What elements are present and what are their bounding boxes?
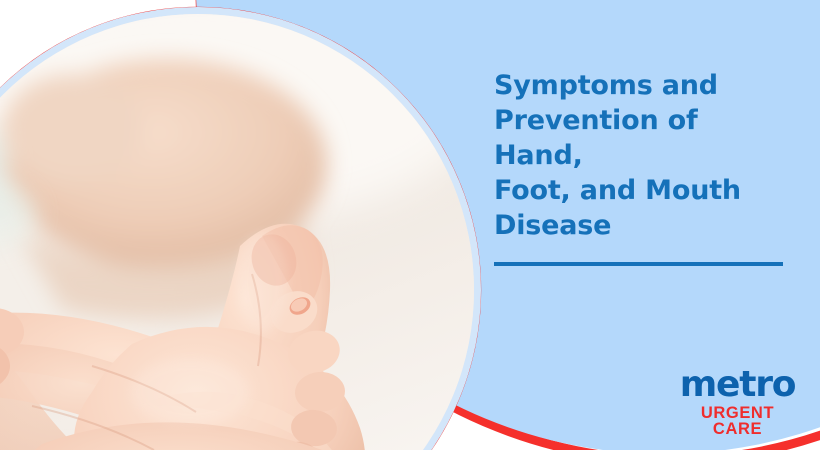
title-line-3: Foot, and Mouth bbox=[494, 175, 741, 206]
blog-banner: Symptoms and Prevention of Hand, Foot, a… bbox=[0, 0, 820, 450]
logo-brand-text: metro bbox=[675, 368, 800, 403]
title-line-2: Prevention of Hand, bbox=[494, 105, 698, 171]
title-line-4: Disease bbox=[494, 210, 611, 241]
hero-photo-image bbox=[0, 14, 474, 450]
title-line-1: Symptoms and bbox=[494, 70, 718, 101]
title-underline bbox=[494, 262, 783, 266]
brand-logo[interactable]: metro URGENT CARE bbox=[675, 368, 800, 438]
page-title: Symptoms and Prevention of Hand, Foot, a… bbox=[494, 68, 794, 243]
logo-tagline-text: URGENT CARE bbox=[675, 405, 800, 438]
baby-foot-illustration bbox=[0, 14, 474, 450]
hero-photo bbox=[0, 14, 474, 450]
title-block: Symptoms and Prevention of Hand, Foot, a… bbox=[494, 68, 794, 266]
